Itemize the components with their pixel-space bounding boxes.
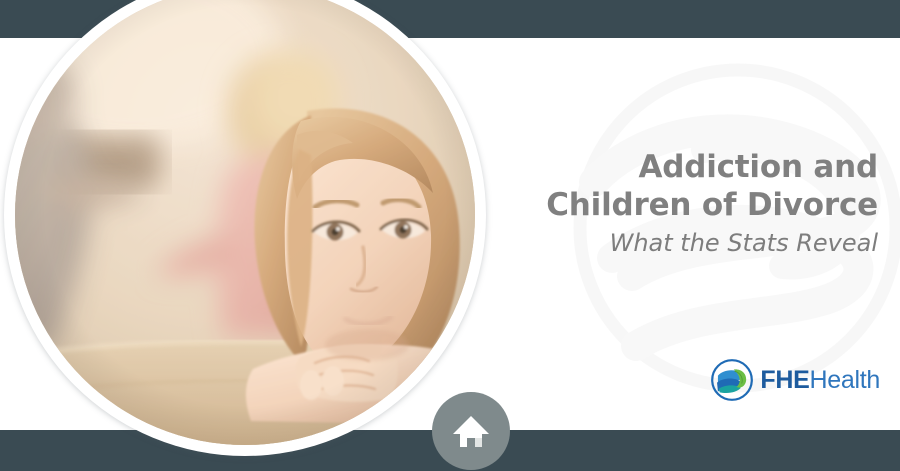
home-badge[interactable]: [432, 392, 510, 470]
circular-photo: [15, 0, 475, 445]
promotional-banner: Addiction and Children of Divorce What t…: [0, 0, 900, 471]
page-title-line-2: Children of Divorce: [418, 186, 878, 224]
brand-name-light: Health: [810, 366, 880, 394]
brand-logo[interactable]: FHEHealth: [710, 358, 880, 402]
photo-circle-frame: [8, 0, 482, 452]
brand-name-bold: FHE: [760, 366, 809, 394]
page-title-line-1: Addiction and: [418, 148, 878, 186]
title-block: Addiction and Children of Divorce What t…: [418, 148, 878, 258]
page-subtitle: What the Stats Reveal: [418, 228, 878, 258]
home-icon: [449, 409, 493, 453]
brand-name: FHEHealth: [760, 368, 880, 393]
fhe-wave-leaf-circle-icon: [710, 358, 754, 402]
